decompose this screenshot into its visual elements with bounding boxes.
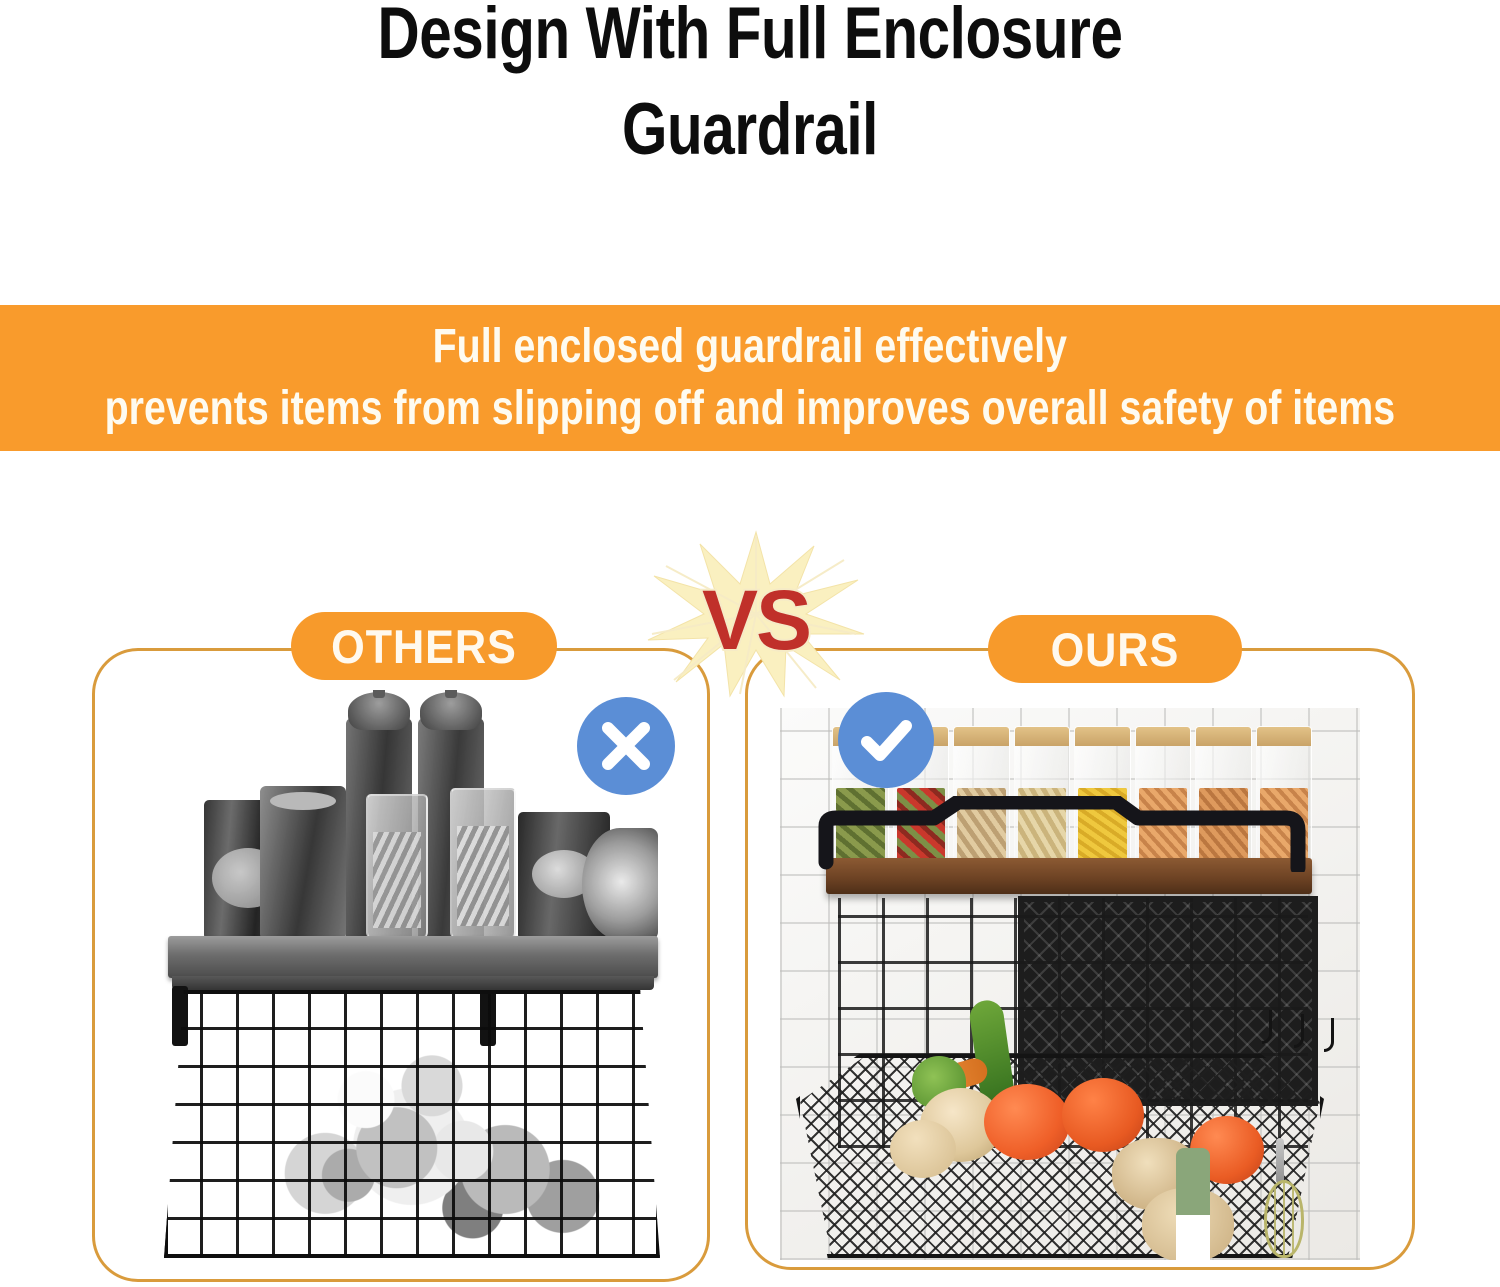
photo-shelf-board (168, 936, 658, 978)
photo-shelf-edge (172, 976, 654, 990)
photo-onion (890, 1120, 956, 1178)
photo-item-can (260, 786, 346, 940)
photo-item-can (582, 828, 658, 940)
photo-hook (1262, 1010, 1272, 1044)
others-label-text: OTHERS (331, 619, 517, 674)
others-label-pill: OTHERS (291, 612, 557, 680)
vs-badge: VS (644, 530, 868, 698)
vs-label: VS (644, 578, 868, 662)
photo-wire-basket (164, 990, 660, 1258)
photo-tomato (984, 1084, 1070, 1160)
cross-icon (595, 715, 657, 777)
comparison-section: OTHERS OURS VS (0, 0, 1500, 1287)
photo-item-glass-jar (366, 794, 428, 940)
check-badge (838, 692, 934, 788)
photo-hook (1294, 1014, 1304, 1048)
ours-label-pill: OURS (988, 615, 1242, 683)
ours-label-text: OURS (1051, 622, 1180, 677)
cross-badge (577, 697, 675, 795)
photo-tomato (1062, 1078, 1144, 1152)
photo-item-glass-jar (450, 788, 516, 940)
photo-spatula (1176, 1148, 1210, 1260)
photo-whisk (1264, 1138, 1298, 1256)
photo-hook (1324, 1018, 1334, 1052)
photo-guardrail (816, 796, 1324, 872)
check-icon (855, 709, 917, 771)
photo-basket-assembly (794, 888, 1346, 1260)
ours-product-photo (780, 708, 1360, 1260)
